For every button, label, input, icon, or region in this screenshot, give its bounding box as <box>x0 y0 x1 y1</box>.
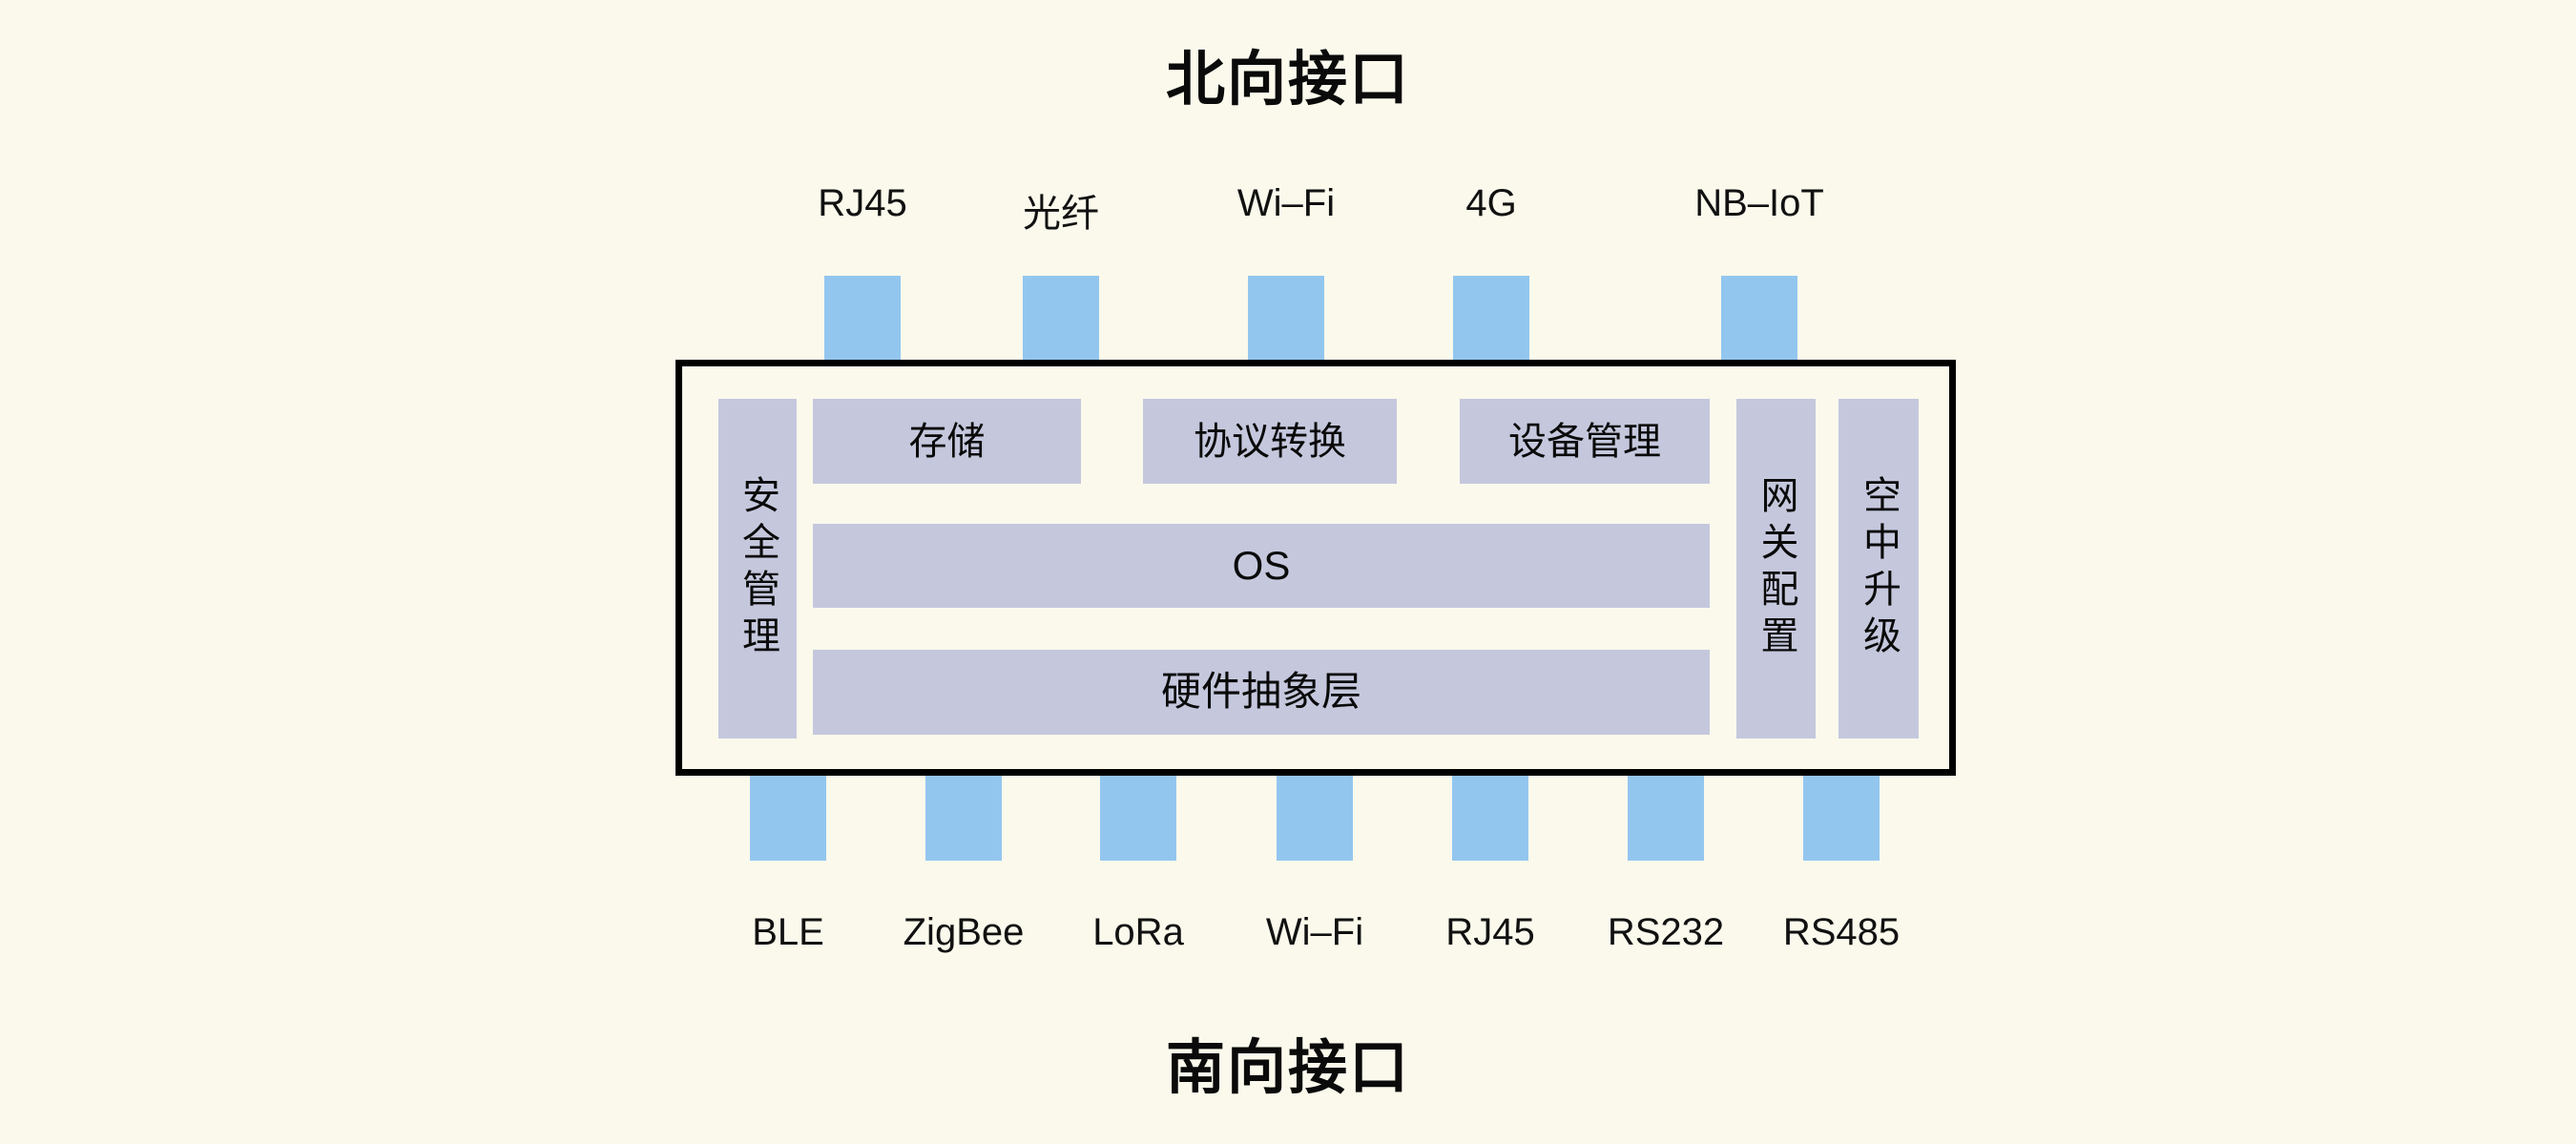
south-pin-rj45[interactable] <box>1452 775 1528 861</box>
south-port-label: RS485 <box>1783 911 1900 954</box>
module-label: OS <box>1233 545 1291 587</box>
north-pin-nbiot[interactable] <box>1721 276 1797 364</box>
south-pin-lora[interactable] <box>1100 775 1176 861</box>
south-port-label: BLE <box>752 911 824 954</box>
module-label: 存储 <box>909 422 986 462</box>
north-interface-title: 北向接口 <box>0 31 2576 116</box>
south-pin-zigbee[interactable] <box>925 775 1002 861</box>
module-gateway-config[interactable]: 网关配置 <box>1736 399 1816 738</box>
north-port-label: Wi–Fi <box>1237 182 1335 225</box>
south-pin-wifi[interactable] <box>1277 775 1353 861</box>
module-device-management[interactable]: 设备管理 <box>1460 399 1710 484</box>
south-port-label: Wi–Fi <box>1266 911 1363 954</box>
south-port-label: RS232 <box>1608 911 1724 954</box>
north-pin-4g[interactable] <box>1453 276 1529 364</box>
north-port-label: 光纤 <box>1023 182 1099 238</box>
south-pin-ble[interactable] <box>750 775 826 861</box>
south-pin-rs232[interactable] <box>1628 775 1704 861</box>
module-label: 安全管理 <box>738 475 777 662</box>
module-label: 网关配置 <box>1757 475 1796 662</box>
module-label: 协议转换 <box>1194 422 1346 462</box>
module-operating-system[interactable]: OS <box>813 524 1710 608</box>
module-label: 空中升级 <box>1859 475 1898 662</box>
module-security-management[interactable]: 安全管理 <box>718 399 797 738</box>
south-pin-rs485[interactable] <box>1803 775 1880 861</box>
south-interface-title: 南向接口 <box>0 1019 2576 1105</box>
north-pin-rj45[interactable] <box>824 276 901 364</box>
north-port-label: RJ45 <box>818 182 906 225</box>
north-port-label: 4G <box>1465 182 1516 225</box>
diagram-canvas: 北向接口 RJ45光纤Wi–Fi4GNB–IoT 安全管理存储协议转换设备管理网… <box>0 0 2576 1144</box>
north-port-label: NB–IoT <box>1694 182 1824 225</box>
module-ota-upgrade[interactable]: 空中升级 <box>1839 399 1919 738</box>
north-pin-光纤[interactable] <box>1023 276 1099 364</box>
module-label: 设备管理 <box>1508 422 1661 462</box>
north-pin-wifi[interactable] <box>1248 276 1324 364</box>
module-protocol-conversion[interactable]: 协议转换 <box>1143 399 1397 484</box>
south-port-label: ZigBee <box>904 911 1025 954</box>
module-hardware-abstraction-layer[interactable]: 硬件抽象层 <box>813 650 1710 735</box>
module-storage[interactable]: 存储 <box>813 399 1081 484</box>
south-port-label: LoRa <box>1092 911 1184 954</box>
south-port-label: RJ45 <box>1445 911 1534 954</box>
module-label: 硬件抽象层 <box>1161 671 1361 713</box>
